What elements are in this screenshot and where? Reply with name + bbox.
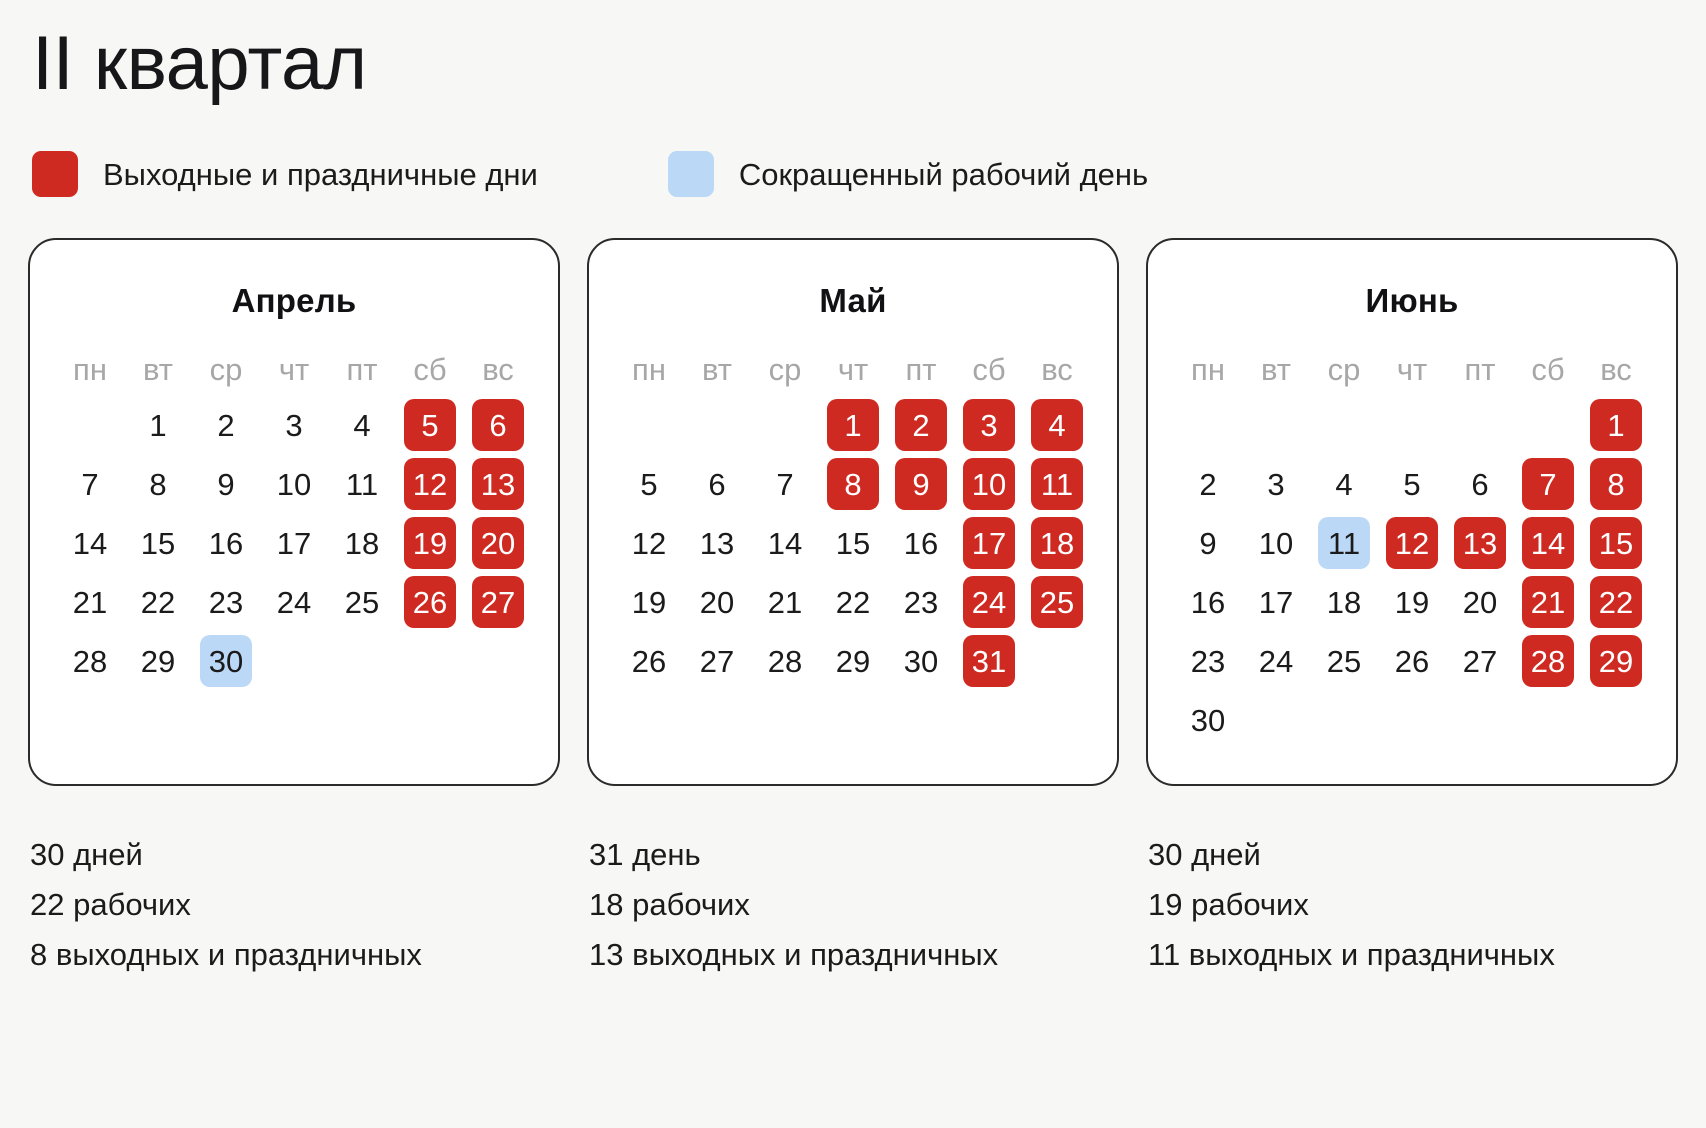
day-cell[interactable]: 19 [623,576,675,628]
legend-item-label: Выходные и праздничные дни [103,159,538,190]
day-cell-holiday[interactable]: 9 [895,458,947,510]
day-cell[interactable]: 3 [1250,458,1302,510]
month-summaries: 30 дней22 рабочих8 выходных и праздничны… [28,830,1678,981]
day-cell-holiday[interactable]: 14 [1522,517,1574,569]
week-row: 2345678 [1174,458,1650,510]
day-cell[interactable]: 9 [200,458,252,510]
day-cell[interactable]: 27 [691,635,743,687]
weekday-label: ср [1328,354,1361,385]
day-cell[interactable]: 3 [268,399,320,451]
day-cell[interactable]: 29 [827,635,879,687]
day-cell[interactable]: 18 [336,517,388,569]
week-row: 23242526272829 [1174,635,1650,687]
month-name: Апрель [56,282,532,320]
day-cell-holiday[interactable]: 8 [1590,458,1642,510]
weekday-label: чт [1397,354,1427,385]
week-row: 282930 [56,635,532,687]
weekday-label: сб [1531,354,1564,385]
day-cell[interactable]: 11 [336,458,388,510]
day-cell[interactable]: 16 [1182,576,1234,628]
day-cell[interactable]: 24 [268,576,320,628]
day-cell[interactable]: 25 [336,576,388,628]
day-cell-holiday[interactable]: 5 [404,399,456,451]
day-cell[interactable]: 9 [1182,517,1234,569]
weekday-header-row: пнвтсрчтптсбвс [56,354,532,385]
day-cell-holiday[interactable]: 25 [1031,576,1083,628]
day-cell[interactable]: 21 [759,576,811,628]
summary-off: 11 выходных и праздничных [1148,930,1678,980]
week-row: 123456 [56,399,532,451]
day-cell-holiday[interactable]: 27 [472,576,524,628]
day-cell[interactable]: 10 [268,458,320,510]
weekday-label: пт [906,354,937,385]
weekday-label: вс [1600,354,1632,385]
summary-off: 8 выходных и праздничных [30,930,560,980]
day-cell-holiday[interactable]: 1 [1590,399,1642,451]
weekday-label: вт [1261,354,1291,385]
summary-total: 30 дней [30,830,560,880]
day-cell-holiday[interactable]: 3 [963,399,1015,451]
week-row: 19202122232425 [615,576,1091,628]
weekday-header-row: пнвтсрчтптсбвс [1174,354,1650,385]
weekday-label: пт [347,354,378,385]
day-cell-holiday[interactable]: 13 [1454,517,1506,569]
legend-item-holidays: Выходные и праздничные дни [32,151,538,197]
weekday-label: пн [73,354,107,385]
day-cell[interactable]: 18 [1318,576,1370,628]
day-cell-holiday[interactable]: 21 [1522,576,1574,628]
weekday-label: ср [210,354,243,385]
weekday-label: чт [838,354,868,385]
week-row: 30 [1174,694,1650,746]
day-cell-holiday[interactable]: 17 [963,517,1015,569]
day-cell[interactable]: 2 [200,399,252,451]
day-cell-holiday[interactable]: 12 [1386,517,1438,569]
weekday-label: чт [279,354,309,385]
holiday-color-swatch-icon [32,151,78,197]
day-cell[interactable]: 6 [1454,458,1506,510]
day-cell[interactable]: 7 [64,458,116,510]
summary-off: 13 выходных и праздничных [589,930,1119,980]
legend-item-label: Сокращенный рабочий день [739,159,1148,190]
day-cell[interactable]: 1 [132,399,184,451]
weekday-label: вс [482,354,514,385]
day-cell[interactable]: 19 [1386,576,1438,628]
day-cell[interactable]: 6 [691,458,743,510]
day-cell[interactable]: 30 [1182,694,1234,746]
day-cell[interactable]: 23 [895,576,947,628]
day-cell[interactable]: 29 [132,635,184,687]
day-cell-holiday[interactable]: 6 [472,399,524,451]
day-cell[interactable]: 16 [200,517,252,569]
day-cell[interactable]: 22 [827,576,879,628]
legend: Выходные и праздничные дни Сокращенный р… [28,150,1678,198]
day-cell-holiday[interactable]: 12 [404,458,456,510]
day-cell-holiday[interactable]: 13 [472,458,524,510]
day-cell-holiday[interactable]: 26 [404,576,456,628]
page-title: II квартал [28,0,1678,102]
weekday-label: вт [143,354,173,385]
summary-working: 18 рабочих [589,880,1119,930]
day-cell[interactable]: 14 [64,517,116,569]
day-cell-holiday[interactable]: 22 [1590,576,1642,628]
summary-total: 31 день [589,830,1119,880]
day-cell[interactable]: 7 [759,458,811,510]
day-cell[interactable]: 27 [1454,635,1506,687]
week-row: 21222324252627 [56,576,532,628]
summary-working: 19 рабочих [1148,880,1678,930]
weekday-label: сб [972,354,1005,385]
day-cell[interactable]: 30 [895,635,947,687]
day-cell-holiday[interactable]: 20 [472,517,524,569]
month-card: Июньпнвтсрчтптсбвс1234567891011121314151… [1146,238,1678,786]
day-cell[interactable]: 12 [623,517,675,569]
week-row: 1 [1174,399,1650,451]
month-card: Апрельпнвтсрчтптсбвс12345678910111213141… [28,238,560,786]
day-cell[interactable]: 15 [132,517,184,569]
weekday-label: пн [632,354,666,385]
day-cell[interactable]: 26 [623,635,675,687]
day-cell[interactable]: 21 [64,576,116,628]
day-cell[interactable]: 20 [691,576,743,628]
weekday-header-row: пнвтсрчтптсбвс [615,354,1091,385]
day-cell-holiday[interactable]: 1 [827,399,879,451]
month-summary: 30 дней19 рабочих11 выходных и праздничн… [1146,830,1678,981]
day-cell-holiday[interactable]: 18 [1031,517,1083,569]
weekday-label: пт [1465,354,1496,385]
day-cell[interactable]: 25 [1318,635,1370,687]
day-cell[interactable]: 4 [336,399,388,451]
day-cell-holiday[interactable]: 7 [1522,458,1574,510]
weekday-label: сб [413,354,446,385]
day-cell[interactable]: 23 [1182,635,1234,687]
day-cell[interactable]: 17 [268,517,320,569]
day-cell-holiday[interactable]: 8 [827,458,879,510]
day-cell[interactable]: 14 [759,517,811,569]
day-cell[interactable]: 23 [200,576,252,628]
day-cell-short-day[interactable]: 11 [1318,517,1370,569]
day-cell[interactable]: 24 [1250,635,1302,687]
day-cell[interactable]: 5 [1386,458,1438,510]
day-cell-holiday[interactable]: 15 [1590,517,1642,569]
weekday-label: ср [769,354,802,385]
day-cell[interactable]: 22 [132,576,184,628]
day-cell-holiday[interactable]: 24 [963,576,1015,628]
day-cell[interactable]: 8 [132,458,184,510]
week-row: 14151617181920 [56,517,532,569]
weekday-label: вт [702,354,732,385]
day-cell[interactable]: 28 [64,635,116,687]
week-row: 567891011 [615,458,1091,510]
day-cell[interactable]: 10 [1250,517,1302,569]
quarter-calendar-page: II квартал Выходные и праздничные дни Со… [0,0,1706,1128]
summary-total: 30 дней [1148,830,1678,880]
short-day-color-swatch-icon [668,151,714,197]
day-cell-holiday[interactable]: 31 [963,635,1015,687]
day-cell[interactable]: 26 [1386,635,1438,687]
day-cell[interactable]: 28 [759,635,811,687]
day-cell[interactable]: 16 [895,517,947,569]
month-cards: Апрельпнвтсрчтптсбвс12345678910111213141… [28,238,1678,786]
month-summary: 30 дней22 рабочих8 выходных и праздничны… [28,830,560,981]
day-cell[interactable]: 2 [1182,458,1234,510]
weekday-label: вс [1041,354,1073,385]
month-summary: 31 день18 рабочих13 выходных и праздничн… [587,830,1119,981]
day-cell[interactable]: 17 [1250,576,1302,628]
day-cell-holiday[interactable]: 10 [963,458,1015,510]
day-cell-holiday[interactable]: 11 [1031,458,1083,510]
day-cell-holiday[interactable]: 4 [1031,399,1083,451]
day-cell-holiday[interactable]: 2 [895,399,947,451]
day-cell[interactable]: 13 [691,517,743,569]
day-cell[interactable]: 4 [1318,458,1370,510]
week-row: 12131415161718 [615,517,1091,569]
summary-working: 22 рабочих [30,880,560,930]
legend-item-short-day: Сокращенный рабочий день [668,151,1148,197]
week-row: 78910111213 [56,458,532,510]
weekday-label: пн [1191,354,1225,385]
day-cell[interactable]: 5 [623,458,675,510]
week-row: 1234 [615,399,1091,451]
month-name: Май [615,282,1091,320]
month-name: Июнь [1174,282,1650,320]
day-cell-short-day[interactable]: 30 [200,635,252,687]
month-card: Майпнвтсрчтптсбвс12345678910111213141516… [587,238,1119,786]
day-cell-holiday[interactable]: 29 [1590,635,1642,687]
day-cell-holiday[interactable]: 28 [1522,635,1574,687]
week-row: 9101112131415 [1174,517,1650,569]
day-cell-holiday[interactable]: 19 [404,517,456,569]
day-cell[interactable]: 15 [827,517,879,569]
week-row: 262728293031 [615,635,1091,687]
week-row: 16171819202122 [1174,576,1650,628]
day-cell[interactable]: 20 [1454,576,1506,628]
